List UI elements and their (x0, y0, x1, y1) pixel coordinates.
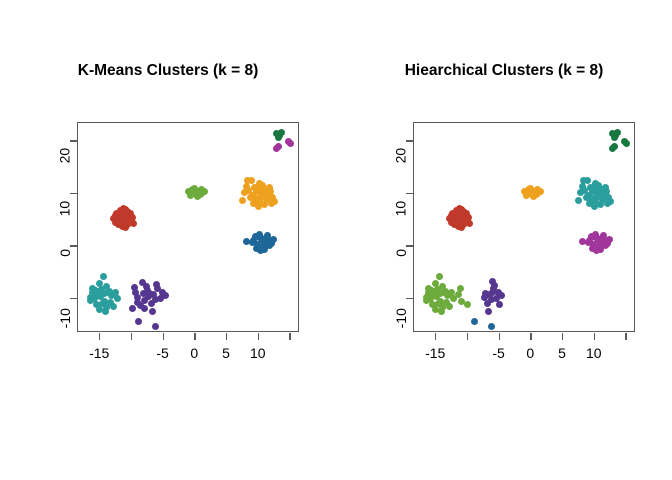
data-point-cluster-6-blue (257, 247, 264, 254)
y-axis-tick (406, 140, 413, 141)
data-point-cluster-3-indigo (496, 301, 503, 308)
x-axis-tick (194, 333, 195, 340)
data-point-cluster-8-blue (471, 318, 478, 325)
data-point-cluster-6-magenta (588, 233, 595, 240)
panel-hierarchical: Hiearchical Clusters (k = 8) 20100-10-15… (336, 0, 672, 480)
y-axis-tick (406, 245, 413, 246)
data-point-cluster-6-blue (270, 236, 277, 243)
data-point-cluster-3-indigo (129, 305, 136, 312)
panel-title-hierarchical: Hiearchical Clusters (k = 8) (336, 62, 672, 80)
x-axis-tick (625, 333, 626, 340)
data-point-cluster-7-dark-green (623, 140, 630, 147)
data-point-cluster-2-teal (100, 273, 107, 280)
data-point-cluster-3-indigo (152, 323, 159, 330)
x-axis-tick (499, 333, 500, 340)
x-axis-tick (530, 333, 531, 340)
x-axis-tick (258, 333, 259, 340)
data-point-cluster-1-red (448, 219, 455, 226)
data-point-cluster-5-orange (255, 203, 262, 210)
data-point-cluster-3-indigo (491, 282, 498, 289)
data-point-cluster-2-light-green (439, 283, 446, 290)
data-point-cluster-3-indigo (481, 294, 488, 301)
data-point-cluster-5-teal (590, 185, 597, 192)
data-point-cluster-6-blue (266, 242, 273, 249)
data-point-cluster-5-teal (575, 197, 582, 204)
data-point-cluster-2-teal (110, 303, 117, 310)
x-axis-tick-label: 5 (558, 345, 566, 361)
x-axis-tick-label: 0 (190, 345, 198, 361)
data-point-cluster-3-indigo (488, 296, 495, 303)
x-axis-tick-label: -15 (89, 345, 109, 361)
data-point-cluster-3-indigo (135, 318, 142, 325)
y-axis-tick (70, 298, 77, 299)
cluster-comparison-figure: K-Means Clusters (k = 8) 20100-10-15-505… (0, 0, 672, 480)
data-point-cluster-5-teal (580, 177, 587, 184)
data-point-cluster-7-dark-green (614, 129, 621, 136)
data-point-cluster-1-red (122, 224, 129, 231)
data-point-cluster-3-indigo (489, 289, 496, 296)
x-axis-tick (594, 333, 595, 340)
data-point-cluster-1-red (466, 220, 473, 227)
data-point-cluster-2-light-green (431, 290, 438, 297)
data-point-cluster-3-indigo (485, 308, 492, 315)
panel-title-kmeans: K-Means Clusters (k = 8) (0, 62, 336, 80)
y-axis-tick (70, 193, 77, 194)
data-point-cluster-5-orange (271, 198, 278, 205)
data-point-cluster-5-orange (254, 185, 261, 192)
y-axis-tick (70, 245, 77, 246)
data-point-cluster-2-teal (95, 290, 102, 297)
x-axis-tick-label: -15 (425, 345, 445, 361)
y-axis-tick-label: -10 (57, 308, 73, 328)
x-axis-tick (435, 333, 436, 340)
x-axis-tick-label: -5 (492, 345, 504, 361)
data-point-cluster-5-teal (591, 203, 598, 210)
data-point-cluster-3-indigo (134, 299, 141, 306)
data-point-cluster-6-blue (252, 233, 259, 240)
data-point-cluster-2-light-green (436, 273, 443, 280)
data-point-cluster-6-blue (263, 234, 270, 241)
y-axis-tick-label: 0 (393, 249, 409, 257)
data-point-cluster-2-light-green (438, 308, 445, 315)
data-point-cluster-5-orange (244, 177, 251, 184)
data-point-cluster-8-blue (488, 323, 495, 330)
x-axis-tick-label: 0 (526, 345, 534, 361)
y-axis-tick (406, 193, 413, 194)
x-axis-tick-label: 10 (586, 345, 602, 361)
data-point-cluster-2-teal (102, 308, 109, 315)
data-point-cluster-2-light-green (446, 303, 453, 310)
x-axis-tick-label: 10 (250, 345, 266, 361)
y-axis-tick-label: -10 (393, 308, 409, 328)
data-point-cluster-3-indigo (149, 308, 156, 315)
data-point-cluster-6-magenta (599, 234, 606, 241)
data-point-cluster-2-light-green (457, 285, 464, 292)
y-axis-tick-label: 20 (393, 148, 409, 164)
x-axis-tick (131, 333, 132, 340)
data-point-cluster-3-indigo (159, 289, 166, 296)
y-axis-tick (406, 298, 413, 299)
data-point-cluster-3-indigo (141, 305, 148, 312)
data-point-cluster-3-indigo (495, 289, 502, 296)
data-point-cluster-7-dark-green (278, 129, 285, 136)
data-point-cluster-2-teal (111, 291, 118, 298)
data-point-cluster-6-magenta (593, 247, 600, 254)
x-axis-tick (163, 333, 164, 340)
x-axis-tick-label: 5 (222, 345, 230, 361)
data-point-cluster-1-red (460, 208, 467, 215)
data-point-cluster-2-teal (87, 297, 94, 304)
data-point-cluster-1-red (112, 219, 119, 226)
y-axis-tick-label: 10 (393, 201, 409, 217)
plot-area-hierarchical (413, 122, 635, 332)
data-point-cluster-7-dark-green (609, 145, 616, 152)
y-axis-tick-label: 0 (57, 249, 73, 257)
data-point-cluster-2-teal (103, 283, 110, 290)
y-axis-tick-label: 20 (57, 148, 73, 164)
y-axis-tick-label: 10 (57, 201, 73, 217)
x-axis-tick (467, 333, 468, 340)
x-axis-tick-label: -5 (156, 345, 168, 361)
data-point-cluster-2-light-green (435, 300, 442, 307)
y-axis-tick (70, 140, 77, 141)
data-point-cluster-3-indigo (143, 283, 150, 290)
data-point-cluster-1-red (458, 224, 465, 231)
x-axis-tick (289, 333, 290, 340)
x-axis-tick (99, 333, 100, 340)
data-point-cluster-5-teal (607, 198, 614, 205)
data-point-cluster-1-red (124, 208, 131, 215)
data-point-cluster-2-light-green (447, 291, 454, 298)
data-point-cluster-3-indigo (152, 296, 159, 303)
data-point-cluster-2-light-green (464, 301, 471, 308)
data-point-cluster-6-magenta (602, 242, 609, 249)
data-point-cluster-2-light-green (423, 297, 430, 304)
data-point-cluster-8-magenta (287, 140, 294, 147)
data-point-cluster-5-orange (239, 197, 246, 204)
panel-kmeans: K-Means Clusters (k = 8) 20100-10-15-505… (0, 0, 336, 480)
data-point-cluster-1-red (130, 220, 137, 227)
data-point-cluster-6-magenta (606, 236, 613, 243)
data-point-cluster-8-magenta (273, 145, 280, 152)
plot-area-kmeans (77, 122, 299, 332)
x-axis-tick (562, 333, 563, 340)
data-point-cluster-2-teal (99, 300, 106, 307)
x-axis-tick (226, 333, 227, 340)
